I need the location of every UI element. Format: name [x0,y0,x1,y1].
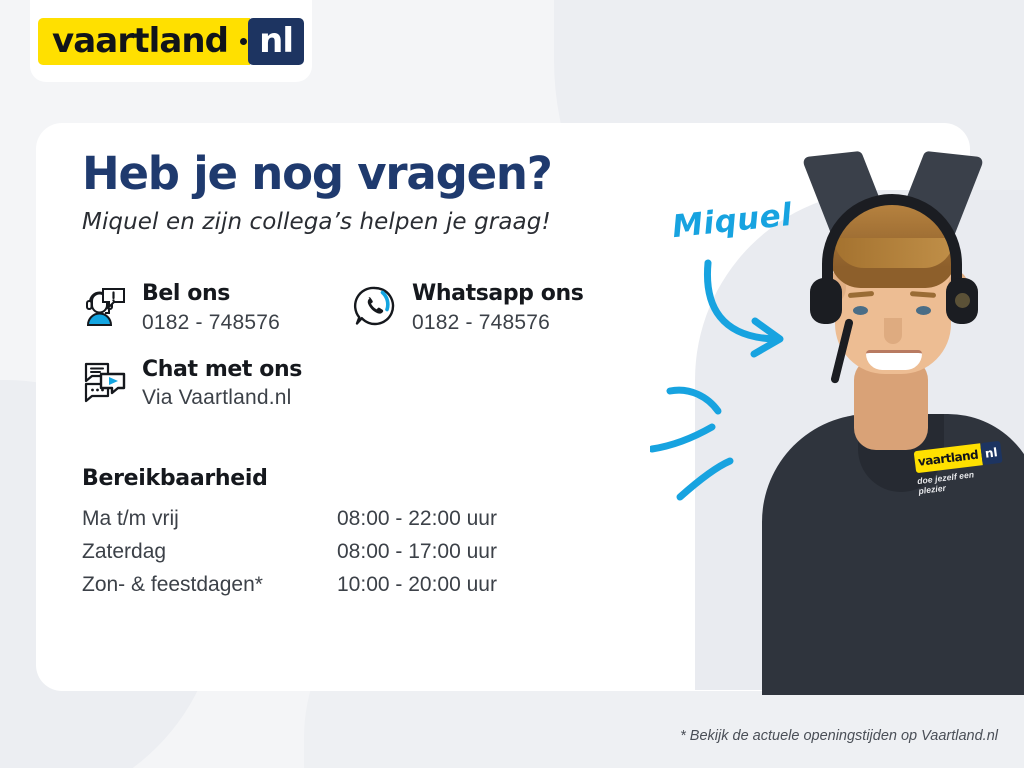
contact-text-whatsapp: Whatsapp ons 0182 - 748576 [412,281,583,334]
contact-item-chat[interactable]: Chat met ons Via Vaartland.nl [82,357,352,410]
headset-person-icon [82,283,128,329]
logo-wordmark: vaartland [38,18,240,65]
table-row: Zon- & feestdagen* 10:00 - 20:00 uur [82,573,642,597]
contact-text-phone: Bel ons 0182 - 748576 [142,281,280,334]
mouth [866,350,922,370]
card-content: Heb je nog vragen? Miquel en zijn colleg… [82,150,642,606]
hours-time: 10:00 - 20:00 uur [337,573,497,597]
contact-title-phone: Bel ons [142,281,230,306]
contact-text-chat: Chat met ons Via Vaartland.nl [142,357,302,410]
contact-value-phone: 0182 - 748576 [142,311,280,335]
nose [884,318,902,344]
contact-methods: Bel ons 0182 - 748576 Whatsapp ons 0182 … [82,281,642,410]
contact-title-chat: Chat met ons [142,357,302,382]
chat-bubbles-icon [82,359,128,405]
whatsapp-icon [352,283,398,329]
contact-item-whatsapp[interactable]: Whatsapp ons 0182 - 748576 [352,281,642,334]
polo-logo-tld: nl [980,441,1003,465]
polo-brand-logo: vaartland nl doe jezelf een plezier [914,441,1005,495]
opening-hours: Bereikbaarheid Ma t/m vrij 08:00 - 22:00… [82,466,642,597]
table-row: Zaterdag 08:00 - 17:00 uur [82,540,642,564]
hours-time: 08:00 - 17:00 uur [337,540,497,564]
opening-hours-title: Bereikbaarheid [82,466,642,491]
promo-banner: vaartland nl [0,0,1024,768]
brand-logo[interactable]: vaartland nl [30,0,312,82]
opening-hours-table: Ma t/m vrij 08:00 - 22:00 uur Zaterdag 0… [82,507,642,597]
hours-day: Zaterdag [82,540,337,564]
accent-strokes-icon [650,365,770,510]
logo-tld: nl [248,18,304,65]
hours-day: Ma t/m vrij [82,507,337,531]
hours-time: 08:00 - 22:00 uur [337,507,497,531]
contact-value-whatsapp: 0182 - 748576 [412,311,583,335]
contact-grid-spacer [352,357,642,410]
contact-value-chat: Via Vaartland.nl [142,386,302,410]
page-subtitle: Miquel en zijn collega’s helpen je graag… [82,209,642,235]
table-row: Ma t/m vrij 08:00 - 22:00 uur [82,507,642,531]
headset-earcup-right [946,278,978,324]
contact-title-whatsapp: Whatsapp ons [412,281,583,306]
footnote: * Bekijk de actuele openingstijden op Va… [680,728,998,744]
headset-earcup-left [810,278,842,324]
curved-arrow-right-icon [700,255,810,365]
hours-day: Zon- & feestdagen* [82,573,337,597]
logo-lockup: vaartland nl [38,18,304,65]
page-title: Heb je nog vragen? [82,150,642,197]
contact-item-phone[interactable]: Bel ons 0182 - 748576 [82,281,352,334]
